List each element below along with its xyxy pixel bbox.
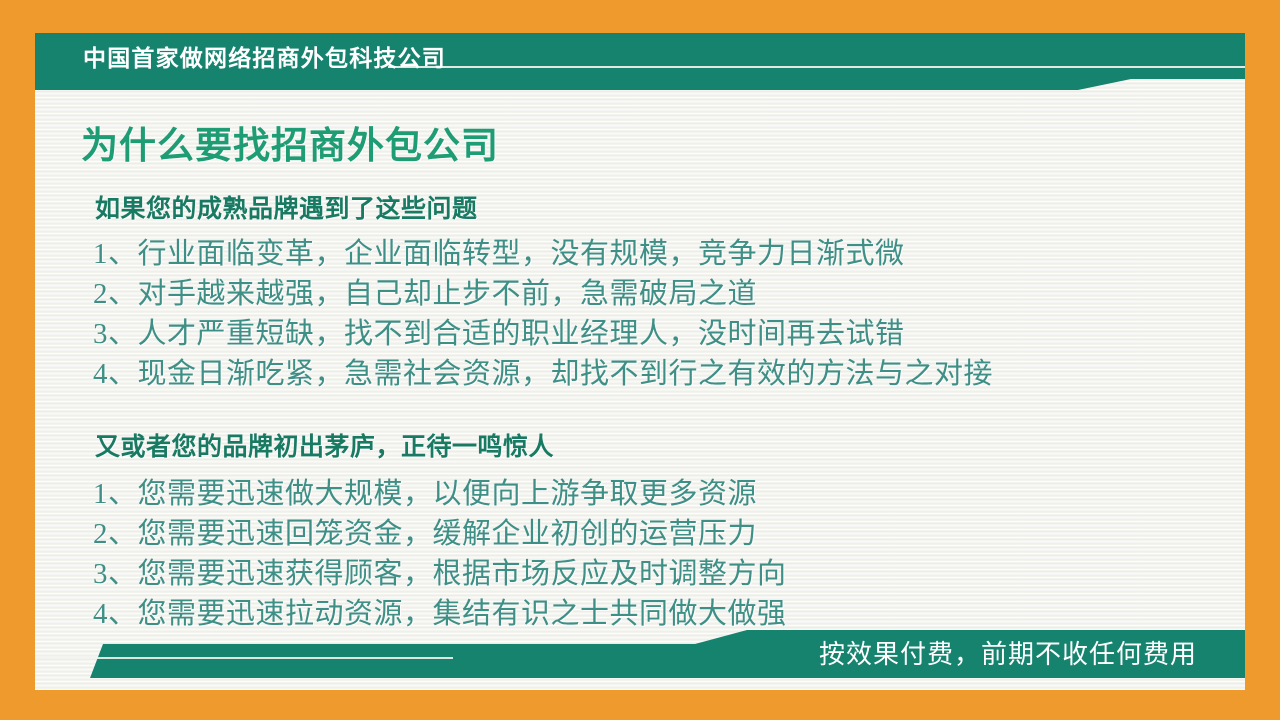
footer-hairline-divider xyxy=(35,657,453,659)
problem-list-mature-brand: 1、行业面临变革，企业面临转型，没有规模，竞争力日渐式微 2、对手越来越强，自己… xyxy=(93,234,1199,394)
header-hairline-divider xyxy=(388,66,1245,68)
footer-slogan: 按效果付费，前期不收任何费用 xyxy=(819,630,1197,678)
slide-root: 中国首家做网络招商外包科技公司 为什么要找招商外包公司 如果您的成熟品牌遇到了这… xyxy=(0,0,1280,720)
content-paper-panel: 中国首家做网络招商外包科技公司 为什么要找招商外包公司 如果您的成熟品牌遇到了这… xyxy=(35,33,1245,690)
footer-banner: 按效果付费，前期不收任何费用 xyxy=(35,622,1245,690)
main-content: 为什么要找招商外包公司 如果您的成熟品牌遇到了这些问题 1、行业面临变革，企业面… xyxy=(35,90,1245,634)
list-item: 3、人才严重短缺，找不到合适的职业经理人，没时间再去试错 xyxy=(93,314,1199,354)
list-item: 1、您需要迅速做大规模，以便向上游争取更多资源 xyxy=(93,474,1199,514)
list-item: 1、行业面临变革，企业面临转型，没有规模，竞争力日渐式微 xyxy=(93,234,1199,274)
header-tagline: 中国首家做网络招商外包科技公司 xyxy=(83,33,446,83)
list-item: 2、您需要迅速回笼资金，缓解企业初创的运营压力 xyxy=(93,514,1199,554)
list-item: 4、现金日渐吃紧，急需社会资源，却找不到行之有效的方法与之对接 xyxy=(93,354,1199,394)
section-heading-mature-brand: 如果您的成熟品牌遇到了这些问题 xyxy=(95,194,1199,224)
page-title: 为什么要找招商外包公司 xyxy=(81,124,1199,168)
list-item: 3、您需要迅速获得顾客，根据市场反应及时调整方向 xyxy=(93,554,1199,594)
need-list-new-brand: 1、您需要迅速做大规模，以便向上游争取更多资源 2、您需要迅速回笼资金，缓解企业… xyxy=(93,474,1199,634)
list-item: 2、对手越来越强，自己却止步不前，急需破局之道 xyxy=(93,274,1199,314)
section-heading-new-brand: 又或者您的品牌初出茅庐，正待一鸣惊人 xyxy=(95,432,1199,462)
